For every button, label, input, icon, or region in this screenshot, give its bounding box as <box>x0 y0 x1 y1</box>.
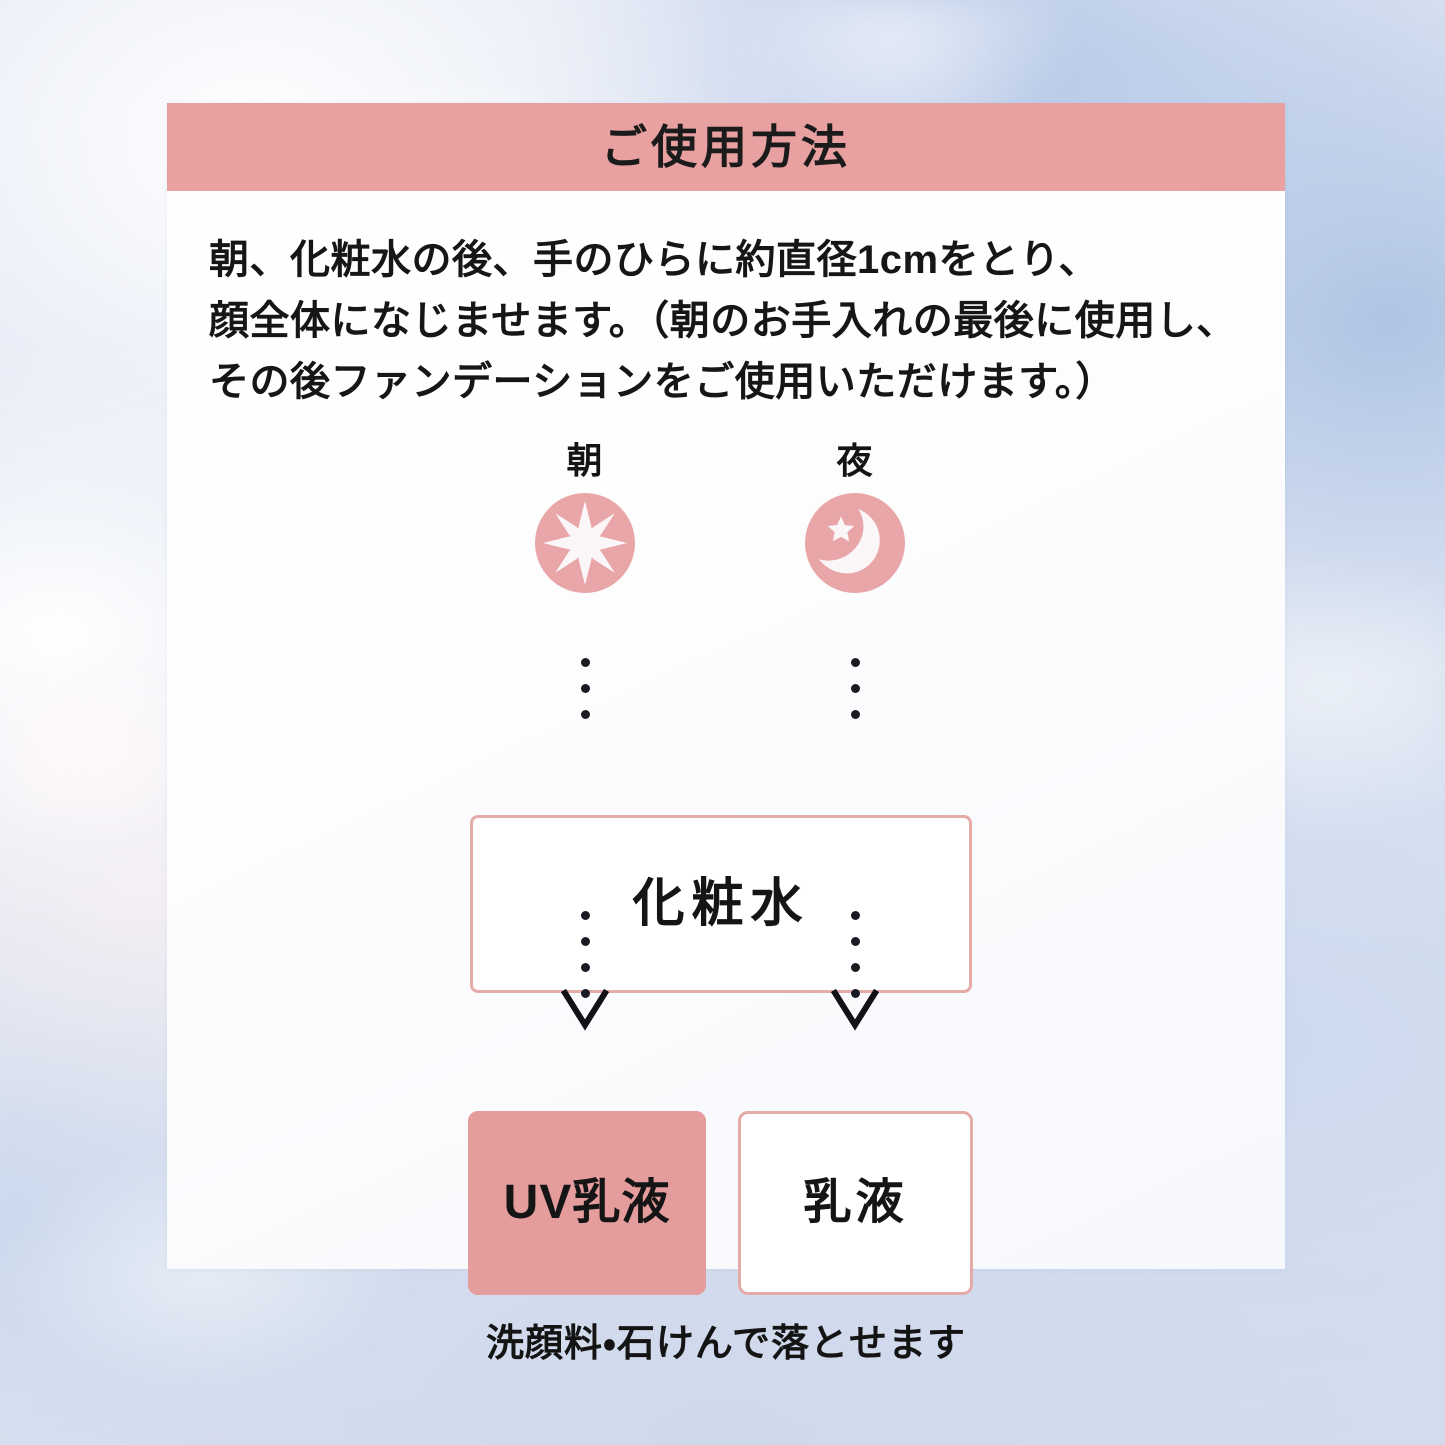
chevron-down-icon-uv <box>561 989 609 1031</box>
instruction-line-1: 朝、化粧水の後、手のひらに約直径1cmをとり、 <box>209 230 1249 291</box>
routine-flow-diagram: 朝 <box>167 443 1285 1269</box>
flow-step-uv-emulsion: UV乳液 <box>468 1111 706 1295</box>
poster-canvas: ご使用方法 朝、化粧水の後、手のひらに約直径1cmをとり、 顔全体になじませます… <box>0 0 1445 1445</box>
connector-dot <box>581 911 590 920</box>
connector-dot <box>581 658 590 667</box>
sun-icon <box>535 493 635 593</box>
connector-dots-night-to-toner <box>850 658 860 719</box>
connector-dot <box>851 963 860 972</box>
card-header-band: ご使用方法 <box>167 103 1285 191</box>
moon-star-icon <box>805 493 905 593</box>
card-title: ご使用方法 <box>601 124 851 170</box>
flow-step-emulsion-label: 乳液 <box>803 1179 907 1227</box>
connector-dots-morning-to-toner <box>580 658 590 719</box>
connector-dot <box>581 937 590 946</box>
removal-footnote: 洗顔料・石けんで落とせます <box>167 1325 1285 1363</box>
connector-dot <box>581 684 590 693</box>
flow-step-uv-emulsion-label: UV乳液 <box>504 1179 671 1227</box>
connector-dot <box>851 710 860 719</box>
connector-dot <box>851 684 860 693</box>
connector-dot <box>851 911 860 920</box>
flow-step-emulsion: 乳液 <box>738 1111 973 1295</box>
usage-instructions-card: ご使用方法 朝、化粧水の後、手のひらに約直径1cmをとり、 顔全体になじませます… <box>167 103 1285 1269</box>
flow-step-toner: 化粧水 <box>470 815 972 993</box>
flow-step-toner-label: 化粧水 <box>632 878 809 930</box>
flow-column-morning: 朝 <box>495 443 675 593</box>
connector-dot <box>581 963 590 972</box>
connector-dot <box>851 658 860 667</box>
connector-dot <box>581 710 590 719</box>
instruction-line-3: その後ファンデーションをご使用いただけます。） <box>209 352 1249 413</box>
flow-column-night: 夜 <box>765 443 945 593</box>
usage-instructions-text: 朝、化粧水の後、手のひらに約直径1cmをとり、 顔全体になじませます。（朝のお手… <box>209 230 1249 412</box>
chevron-down-icon-milk <box>831 989 879 1031</box>
connector-dots-toner-to-milk <box>850 911 860 998</box>
connector-dot <box>851 937 860 946</box>
flow-column-label-morning: 朝 <box>495 443 675 479</box>
flow-column-label-night: 夜 <box>765 443 945 479</box>
instruction-line-2: 顔全体になじませます。（朝のお手入れの最後に使用し、 <box>209 291 1249 352</box>
connector-dots-toner-to-uv <box>580 911 590 998</box>
